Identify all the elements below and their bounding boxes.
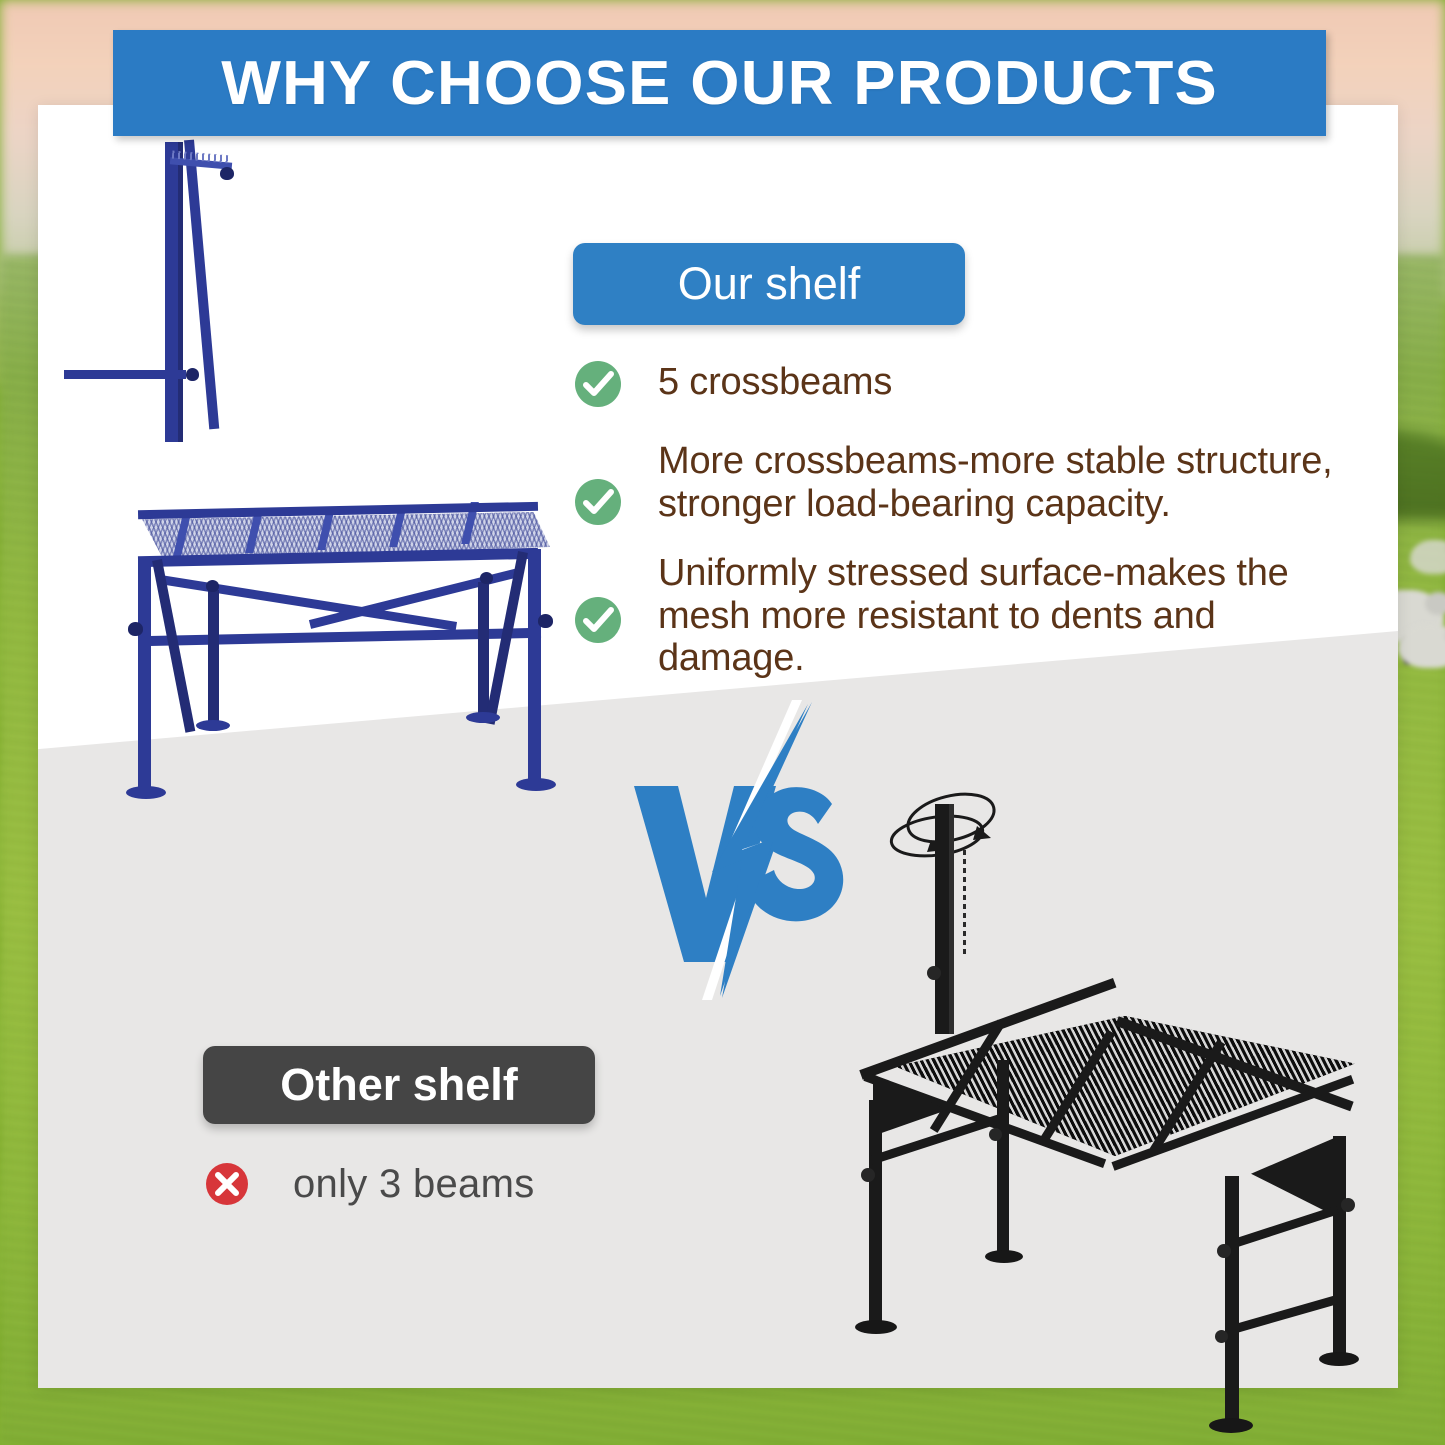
black-post [935, 804, 949, 1034]
blue-adjuster-knob [480, 572, 493, 584]
black-stretcher [1230, 1206, 1339, 1249]
black-gusset [1251, 1136, 1339, 1218]
our-bullet-1-text: 5 crossbeams [658, 361, 892, 404]
sheep [1410, 540, 1445, 574]
black-foot [1319, 1352, 1359, 1366]
blue-foot [516, 778, 556, 791]
other-shelf-badge-label: Other shelf [280, 1059, 518, 1111]
our-product-image [60, 120, 600, 820]
other-product-image [845, 770, 1385, 1400]
black-foot [855, 1320, 897, 1334]
our-bullet-3: Uniformly stressed surface-makes the mes… [572, 552, 1362, 680]
blue-adjuster-knob [128, 622, 143, 636]
blue-leg-rear [208, 590, 219, 725]
blue-leg [138, 636, 151, 791]
black-leg [1225, 1176, 1239, 1426]
blue-adjuster-knob [206, 580, 219, 592]
black-leg [997, 1060, 1009, 1256]
blue-adjuster-knob [538, 614, 553, 628]
check-circle-icon [572, 358, 624, 410]
other-bullet-1: only 3 beams [203, 1160, 535, 1208]
black-chain [963, 850, 966, 954]
black-post-knob [927, 966, 941, 980]
blue-neck-bar [64, 370, 186, 379]
our-bullet-2-text: More crossbeams-more stable structure, s… [658, 440, 1377, 525]
our-shelf-badge: Our shelf [573, 243, 965, 325]
black-leg [1333, 1136, 1346, 1358]
blue-foot [126, 786, 166, 799]
black-foot [985, 1250, 1023, 1263]
blue-foot [466, 712, 500, 723]
our-bullet-3-text: Uniformly stressed surface-makes the mes… [658, 552, 1362, 680]
our-shelf-badge-label: Our shelf [678, 258, 861, 310]
check-circle-icon [572, 594, 624, 646]
our-bullet-1: 5 crossbeams [572, 358, 1372, 410]
blue-post-shadow [178, 142, 183, 442]
blue-leg [528, 628, 541, 783]
our-bullet-2: More crossbeams-more stable structure, s… [572, 440, 1377, 528]
other-shelf-badge: Other shelf [203, 1046, 595, 1124]
cross-circle-icon [203, 1160, 251, 1208]
page-title-banner: WHY CHOOSE OUR PRODUCTS [113, 30, 1326, 136]
versus-lightning-icon [626, 700, 866, 1000]
black-adjuster-knob [1341, 1198, 1355, 1212]
blue-leg-rear [478, 582, 489, 717]
sheep [1398, 624, 1445, 668]
other-bullet-1-text: only 3 beams [293, 1162, 535, 1207]
black-adjuster-knob [1215, 1330, 1228, 1343]
check-circle-icon [572, 476, 624, 528]
blue-foot [196, 720, 230, 731]
black-adjuster-knob [861, 1168, 875, 1182]
black-stretcher [1228, 1295, 1338, 1335]
black-adjuster-knob [989, 1128, 1002, 1141]
black-foot [1209, 1418, 1253, 1433]
blue-headpiece-arm [184, 140, 219, 430]
black-leg [869, 1100, 882, 1326]
black-post-highlight [949, 804, 954, 1034]
blue-post [165, 142, 178, 442]
blue-top-knob [220, 167, 234, 180]
page-title: WHY CHOOSE OUR PRODUCTS [221, 48, 1218, 119]
black-adjuster-knob [1217, 1244, 1231, 1258]
blue-neck-knob [186, 368, 199, 381]
